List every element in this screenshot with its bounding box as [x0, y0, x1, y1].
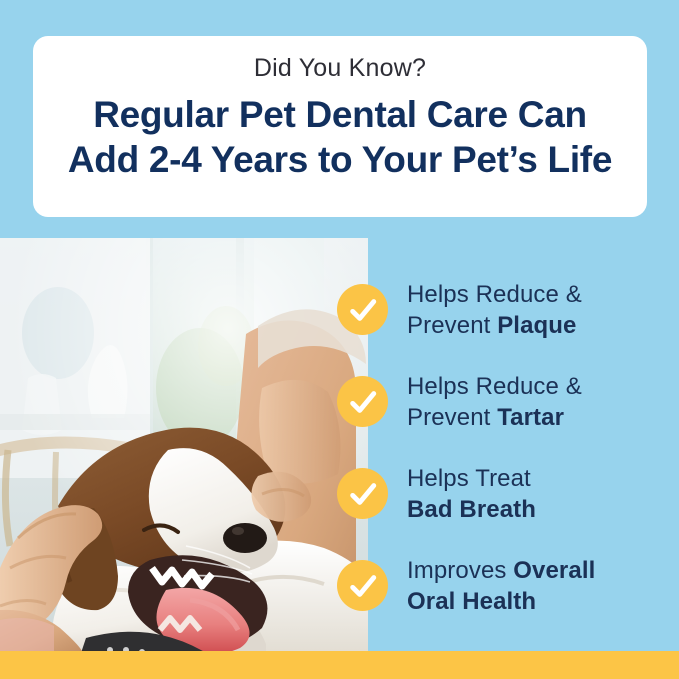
benefit-line-2: Bad Breath: [407, 494, 665, 525]
dog-photo: [0, 238, 368, 651]
check-icon: [337, 376, 388, 427]
infographic-canvas: Did You Know? Regular Pet Dental Care Ca…: [0, 0, 679, 679]
benefit-line-1: Helps Reduce &: [407, 279, 665, 310]
check-icon: [337, 284, 388, 335]
benefit-label: Helps Reduce & Prevent Tartar: [407, 371, 665, 433]
headline-line-2: Add 2-4 Years to Your Pet’s Life: [33, 137, 647, 182]
benefit-line-2: Oral Health: [407, 586, 665, 617]
check-icon: [337, 560, 388, 611]
bottom-accent-bar: [0, 651, 679, 679]
benefit-item-1: Helps Reduce & Prevent Plaque: [337, 262, 667, 354]
eyebrow-text: Did You Know?: [254, 53, 426, 83]
page-title: Regular Pet Dental Care Can Add 2-4 Year…: [33, 92, 647, 182]
benefits-list: Helps Reduce & Prevent Plaque Helps Redu…: [337, 262, 667, 630]
benefit-label: Helps Reduce & Prevent Plaque: [407, 279, 665, 341]
benefit-line-1: Improves Overall: [407, 555, 665, 586]
benefit-label: Helps Treat Bad Breath: [407, 463, 665, 525]
headline-line-1: Regular Pet Dental Care Can: [33, 92, 647, 137]
benefit-item-4: Improves Overall Oral Health: [337, 538, 667, 630]
benefit-item-2: Helps Reduce & Prevent Tartar: [337, 354, 667, 446]
benefit-line-1: Helps Treat: [407, 463, 665, 494]
benefit-line-2: Prevent Tartar: [407, 402, 665, 433]
benefit-line-2: Prevent Plaque: [407, 310, 665, 341]
benefit-label: Improves Overall Oral Health: [407, 555, 665, 617]
benefit-line-1: Helps Reduce &: [407, 371, 665, 402]
headline-card: Did You Know? Regular Pet Dental Care Ca…: [33, 36, 647, 217]
benefit-item-3: Helps Treat Bad Breath: [337, 446, 667, 538]
check-icon: [337, 468, 388, 519]
